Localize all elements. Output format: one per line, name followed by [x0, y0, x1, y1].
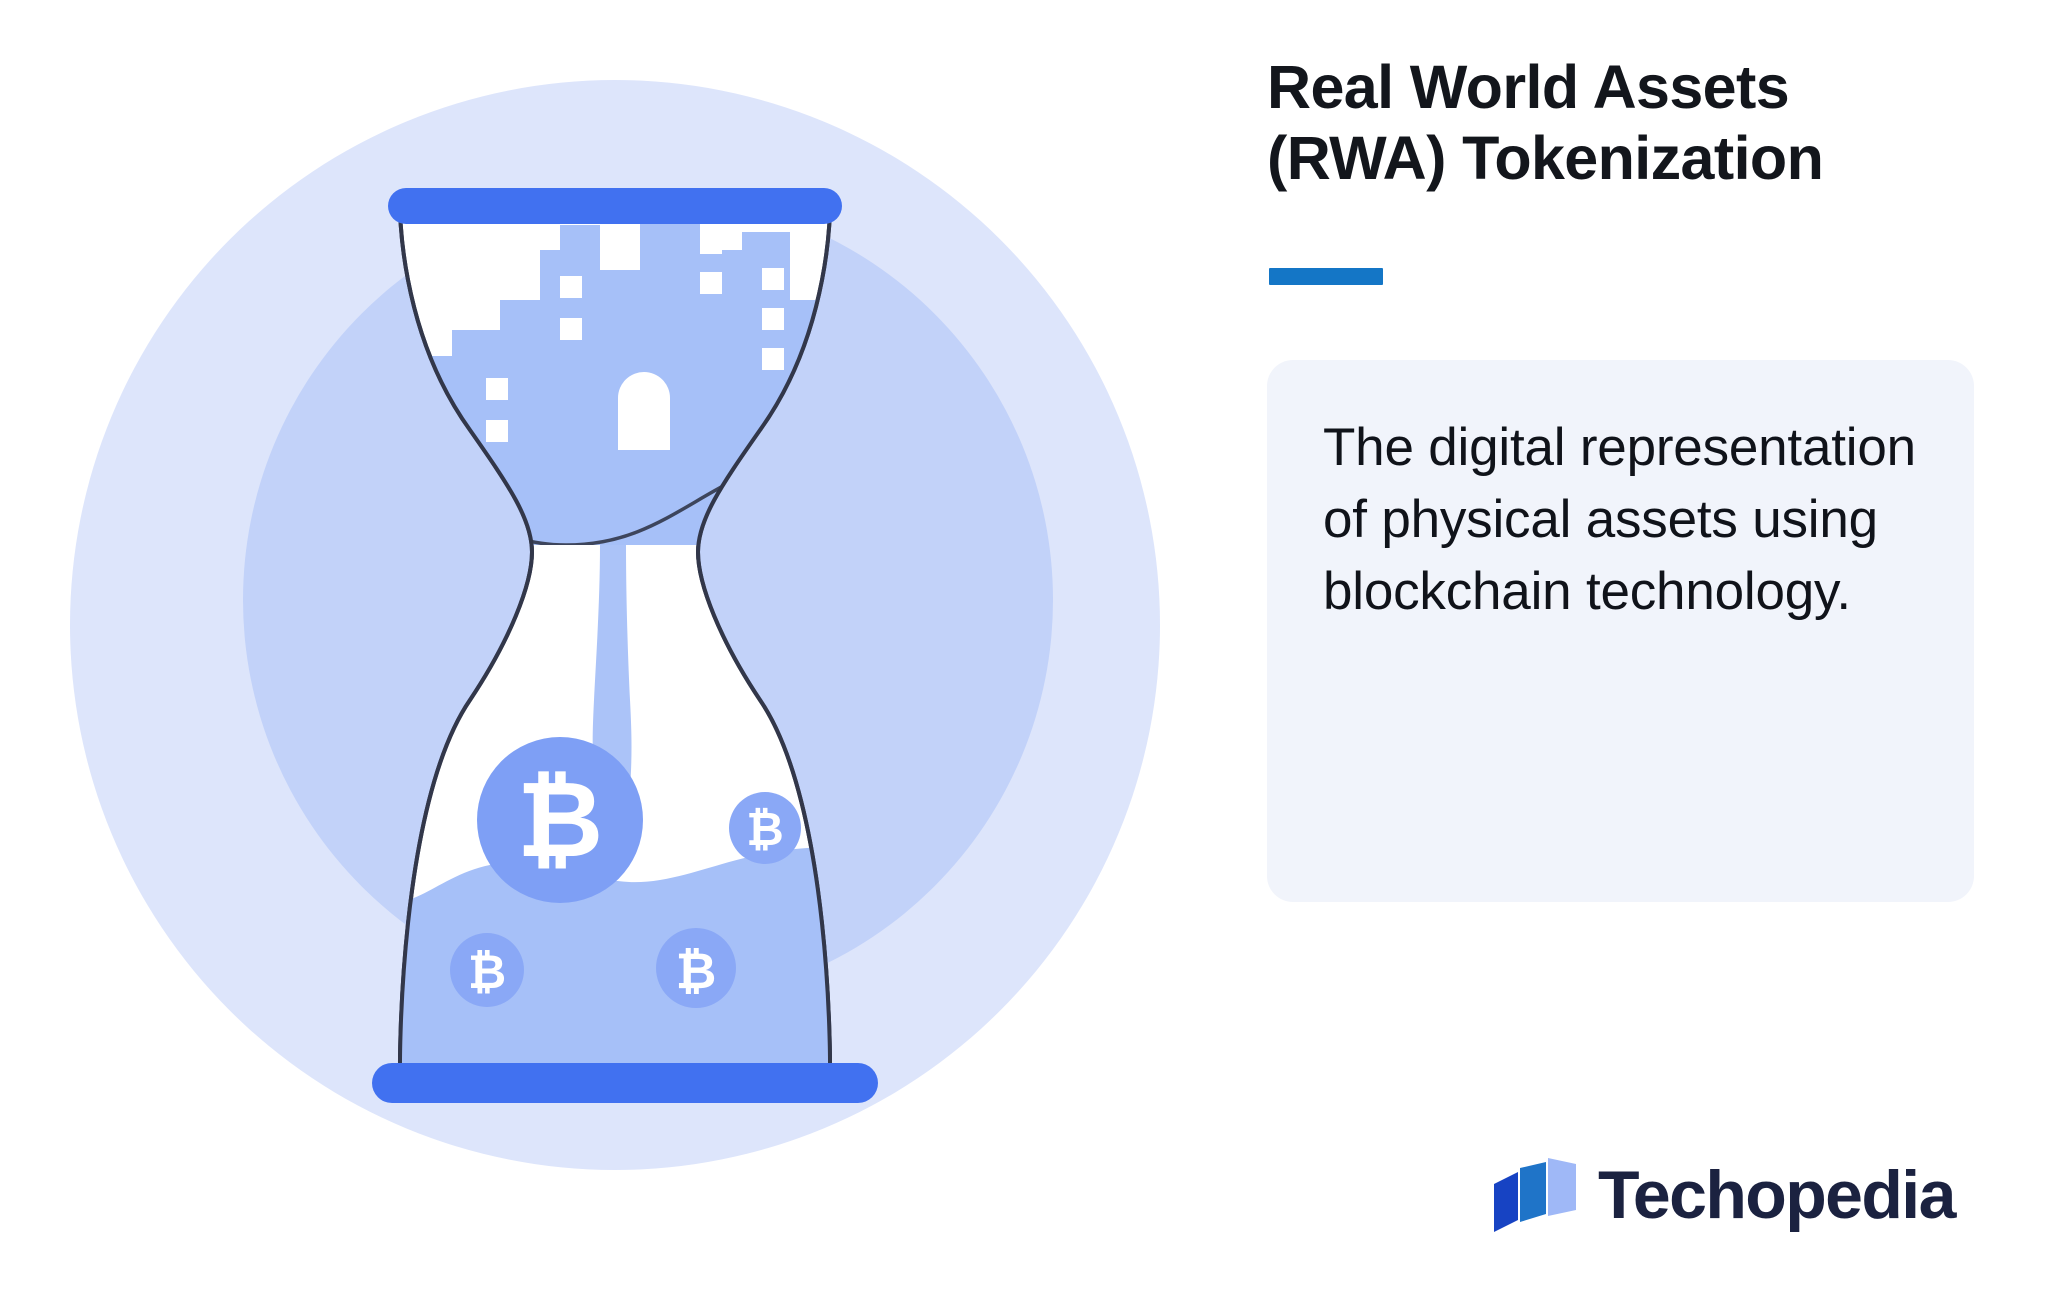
coin-large: ₿	[477, 737, 643, 903]
description-card: The digital representation of physical a…	[1267, 360, 1974, 902]
techopedia-logo[interactable]: Techopedia	[1490, 1152, 1955, 1238]
hourglass-illustration: ₿ ₿ ₿ ₿	[0, 0, 1230, 1297]
page-title: Real World Assets (RWA) Tokenization	[1267, 52, 2047, 195]
coin-pool-right: ₿	[656, 928, 736, 1008]
title-accent-bar	[1269, 268, 1383, 285]
bitcoin-symbol: ₿	[676, 943, 717, 999]
window	[762, 268, 784, 290]
hourglass-bottom-cap	[372, 1063, 878, 1103]
page-title-line-1: Real World Assets	[1267, 52, 2047, 123]
bitcoin-symbol: ₿	[468, 945, 506, 998]
infographic-canvas: ₿ ₿ ₿ ₿	[0, 0, 2048, 1297]
page-title-line-2: (RWA) Tokenization	[1267, 123, 2047, 194]
coin-small-right: ₿	[729, 792, 801, 864]
techopedia-logo-mark	[1490, 1152, 1582, 1238]
bitcoin-symbol: ₿	[746, 803, 784, 855]
hourglass-top-cap	[388, 188, 842, 224]
techopedia-wordmark: Techopedia	[1598, 1161, 1955, 1229]
bitcoin-symbol: ₿	[517, 761, 603, 879]
description-text: The digital representation of physical a…	[1323, 412, 1918, 628]
window	[700, 232, 722, 254]
window	[762, 308, 784, 330]
coin-pool-left: ₿	[450, 933, 524, 1007]
window	[700, 272, 722, 294]
window	[560, 276, 582, 298]
content-panel: Real World Assets (RWA) Tokenization The…	[1245, 0, 2048, 1297]
